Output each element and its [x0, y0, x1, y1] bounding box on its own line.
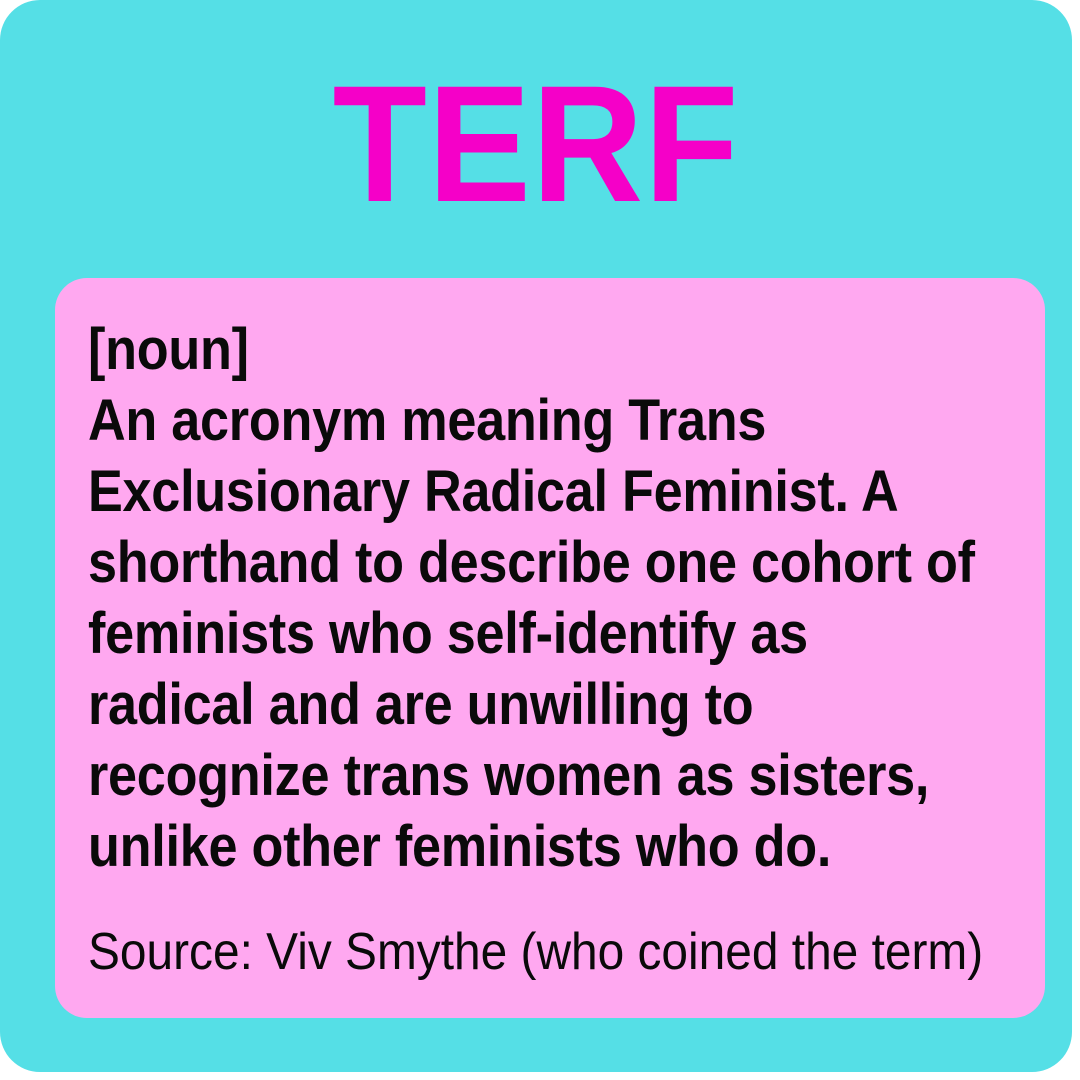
- definition-line: An acronym meaning Trans: [88, 385, 919, 456]
- definition-body: [noun] An acronym meaning Trans Exclusio…: [88, 314, 919, 882]
- source-attribution: Source: Viv Smythe (who coined the term): [88, 922, 983, 982]
- definition-line: unlike other feminists who do.: [88, 811, 919, 882]
- page-title: TERF: [38, 62, 1035, 228]
- definition-line: feminists who self-identify as: [88, 598, 919, 669]
- definition-line: radical and are unwilling to: [88, 669, 919, 740]
- terf-definition-card: TERF [noun] An acronym meaning Trans Exc…: [0, 0, 1072, 1072]
- part-of-speech-label: [noun]: [88, 314, 919, 385]
- definition-panel: [noun] An acronym meaning Trans Exclusio…: [55, 278, 1045, 1018]
- definition-line: shorthand to describe one cohort of: [88, 527, 919, 598]
- definition-line: Exclusionary Radical Feminist. A: [88, 456, 919, 527]
- definition-line: recognize trans women as sisters,: [88, 740, 919, 811]
